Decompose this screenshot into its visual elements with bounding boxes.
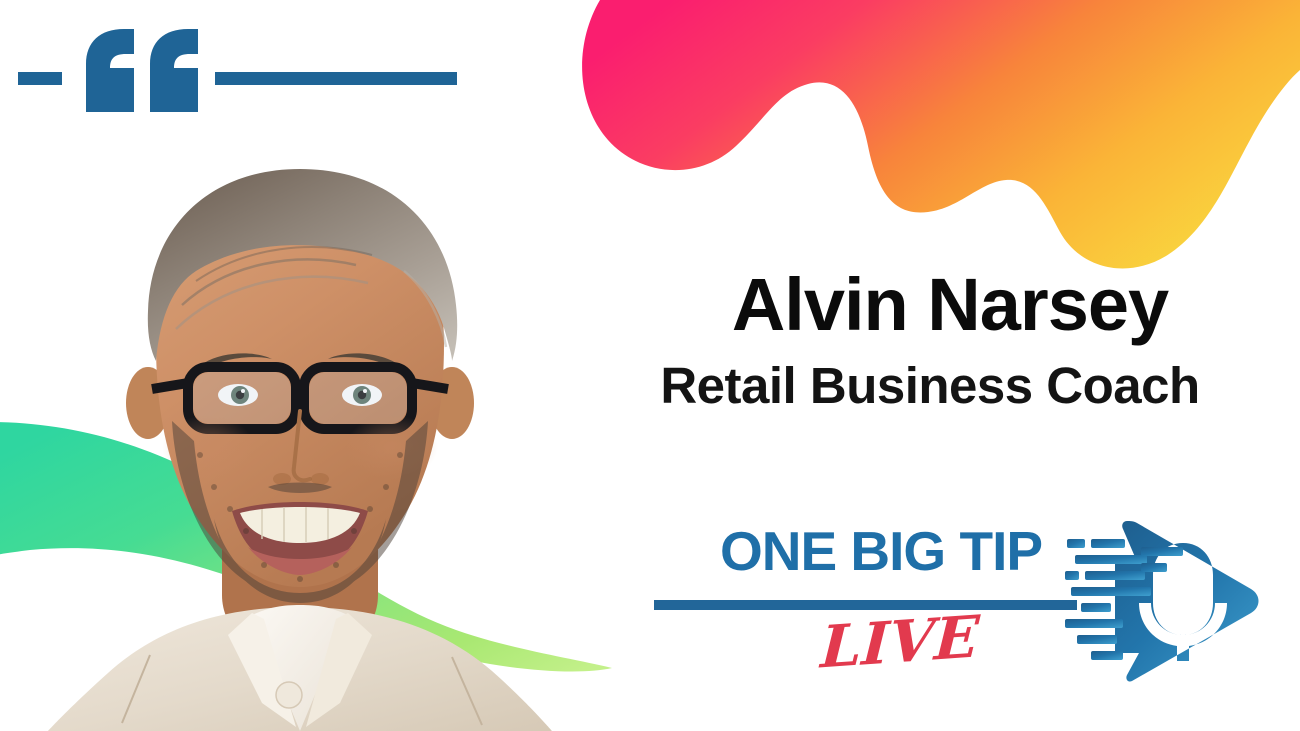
logo-live-label: LIVE xyxy=(798,606,1002,678)
long-rule-icon xyxy=(215,72,457,85)
logo-wordmark: ONE BIG TIP xyxy=(666,524,1096,579)
gradient-blob-top-right xyxy=(560,0,1300,270)
dash-rule-icon xyxy=(18,72,62,85)
slide-canvas: Alvin Narsey Retail Business Coach ONE B… xyxy=(0,0,1300,731)
speaker-title: Retail Business Coach xyxy=(600,360,1260,411)
speaker-name: Alvin Narsey xyxy=(620,268,1280,342)
microphone-play-icon xyxy=(1065,503,1265,698)
show-logo[interactable]: ONE BIG TIP LIVE xyxy=(650,505,1270,700)
logo-divider-rule xyxy=(654,600,1077,610)
speaker-portrait xyxy=(0,95,610,731)
